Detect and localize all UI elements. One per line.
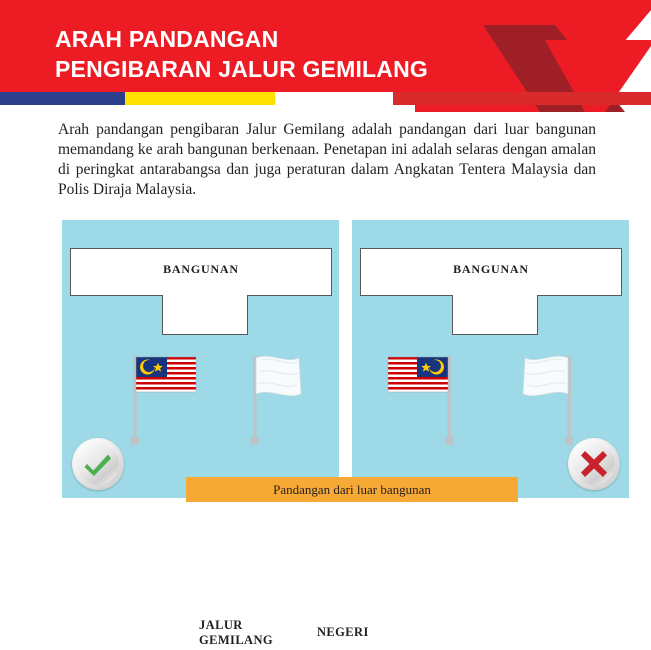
national-flag-right	[377, 348, 467, 448]
building-stem-block	[162, 295, 248, 335]
status-badge-correct	[72, 438, 124, 490]
color-bar-segment-red	[393, 92, 651, 105]
diagram-panel-incorrect: BANGUNAN	[352, 220, 629, 498]
building-shape-left: BANGUNAN	[70, 248, 332, 336]
building-shape-right: BANGUNAN	[360, 248, 622, 336]
page-title: ARAH PANDANGAN PENGIBARAN JALUR GEMILANG	[55, 24, 475, 84]
header-banner: ARAH PANDANGAN PENGIBARAN JALUR GEMILANG	[0, 0, 651, 92]
state-flag-label-left: NEGERI	[317, 625, 369, 640]
check-icon	[77, 443, 119, 485]
building-stem-block	[452, 295, 538, 335]
diagram-panel-correct: BANGUNAN	[62, 220, 339, 498]
cross-icon	[573, 443, 615, 485]
caption-bar: Pandangan dari luar bangunan	[186, 477, 518, 502]
color-bar-segment-white	[275, 92, 393, 105]
building-label-left: BANGUNAN	[70, 262, 332, 277]
description-paragraph: Arah pandangan pengibaran Jalur Gemilang…	[58, 120, 596, 200]
flag-color-bar	[0, 92, 651, 105]
national-flag-label-left: JALUR GEMILANG	[199, 618, 273, 648]
status-badge-incorrect	[568, 438, 620, 490]
building-label-right: BANGUNAN	[360, 262, 622, 277]
state-flag-left	[237, 348, 327, 448]
state-flag-right	[497, 348, 587, 448]
color-bar-segment-yellow	[125, 92, 275, 105]
national-flag-left	[117, 348, 207, 448]
color-bar-segment-blue	[0, 92, 125, 105]
